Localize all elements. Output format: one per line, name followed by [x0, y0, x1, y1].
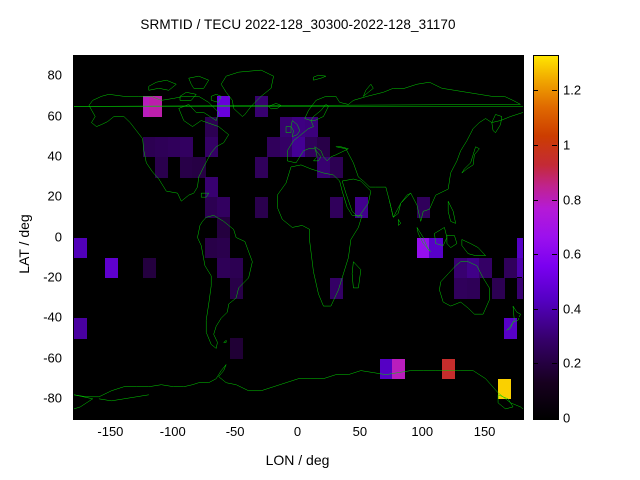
coastline-path — [74, 365, 523, 409]
y-axis-tick-mark — [517, 237, 522, 238]
colorbar-tick-label: 0.6 — [563, 247, 581, 262]
x-axis-tick-label: 50 — [330, 424, 390, 439]
coastline-path — [189, 76, 209, 88]
colorbar-tick-label: 0 — [563, 411, 570, 426]
y-axis-tick-mark — [73, 116, 78, 117]
y-axis-tick-label: 60 — [0, 108, 62, 123]
x-axis-tick-mark — [298, 413, 299, 418]
coastline-path — [211, 94, 221, 102]
colorbar-tick-mark — [552, 90, 557, 91]
colorbar-tick-mark — [552, 309, 557, 310]
colorbar[interactable] — [533, 55, 559, 420]
coastline-path — [434, 227, 446, 245]
x-axis-tick-mark — [360, 413, 361, 418]
x-axis-tick-mark — [173, 55, 174, 60]
x-axis-tick-mark — [360, 55, 361, 60]
y-axis-tick-label: -60 — [0, 350, 62, 365]
x-axis-tick-mark — [173, 413, 174, 418]
colorbar-tick-label: 1.2 — [563, 83, 581, 98]
page-title: SRMTID / TECU 2022-128_30300-2022-128_31… — [0, 17, 596, 32]
coastline-path — [286, 127, 291, 133]
y-axis-tick-label: -80 — [0, 390, 62, 405]
y-axis-label: LAT / deg — [16, 184, 32, 304]
x-axis-tick-label: -100 — [143, 424, 203, 439]
coastline-path — [462, 240, 486, 256]
y-axis-tick-mark — [517, 156, 522, 157]
y-axis-tick-mark — [73, 398, 78, 399]
y-axis-tick-mark — [517, 317, 522, 318]
y-axis-tick-mark — [73, 156, 78, 157]
colorbar-tick-label: 0.2 — [563, 356, 581, 371]
x-axis-tick-mark — [422, 413, 423, 418]
coastline-path — [448, 201, 455, 223]
y-axis-tick-label: -40 — [0, 310, 62, 325]
colorbar-tick-mark — [533, 200, 538, 201]
y-axis-tick-mark — [73, 196, 78, 197]
y-axis-tick-mark — [517, 116, 522, 117]
y-axis-tick-mark — [517, 398, 522, 399]
y-axis-tick-mark — [73, 237, 78, 238]
colorbar-tick-mark — [533, 418, 538, 419]
colorbar-tick-mark — [533, 145, 538, 146]
colorbar-tick-mark — [552, 418, 557, 419]
coastline-path — [224, 340, 226, 342]
coastline-path — [447, 235, 457, 247]
x-axis-label: LON / deg — [73, 452, 522, 468]
colorbar-gradient — [534, 56, 558, 419]
colorbar-tick-mark — [533, 309, 538, 310]
map-canvas — [74, 56, 523, 419]
coastline-path — [439, 262, 489, 314]
colorbar-tick-mark — [533, 363, 538, 364]
coastline-path — [342, 179, 371, 217]
colorbar-tick-mark — [533, 90, 538, 91]
coastline-path — [74, 82, 521, 161]
coastline-path — [363, 84, 373, 96]
colorbar-tick-mark — [552, 363, 557, 364]
y-axis-tick-mark — [73, 277, 78, 278]
x-axis-tick-label: 100 — [392, 424, 452, 439]
y-axis-tick-mark — [73, 75, 78, 76]
figure-root: SRMTID / TECU 2022-128_30300-2022-128_31… — [0, 0, 640, 480]
coastline-path — [417, 227, 431, 251]
x-axis-tick-mark — [235, 55, 236, 60]
coastline-path — [507, 306, 521, 330]
coastline-path — [197, 215, 252, 348]
x-axis-tick-label: 150 — [455, 424, 515, 439]
y-axis-tick-mark — [517, 75, 522, 76]
colorbar-tick-mark — [552, 200, 557, 201]
coastline-overlay — [74, 56, 523, 419]
colorbar-tick-label: 0.4 — [563, 301, 581, 316]
colorbar-tick-label: 0.8 — [563, 192, 581, 207]
colorbar-tick-mark — [552, 254, 557, 255]
x-axis-tick-mark — [422, 55, 423, 60]
coastline-path — [390, 193, 411, 217]
x-axis-tick-mark — [110, 55, 111, 60]
coastline-path — [291, 121, 300, 137]
y-axis-tick-mark — [73, 358, 78, 359]
coastline-path — [89, 94, 229, 201]
coastline-path — [352, 262, 361, 288]
x-axis-tick-mark — [485, 413, 486, 418]
coastline-path — [99, 395, 149, 401]
coastline-path — [492, 114, 502, 132]
y-axis-tick-mark — [517, 196, 522, 197]
colorbar-tick-mark — [552, 145, 557, 146]
x-axis-tick-label: -150 — [80, 424, 140, 439]
x-axis-tick-mark — [298, 55, 299, 60]
y-axis-tick-mark — [73, 317, 78, 318]
coastline-path — [277, 165, 362, 306]
coastline-path — [287, 112, 523, 221]
x-axis-tick-mark — [485, 55, 486, 60]
x-axis-tick-mark — [235, 413, 236, 418]
coastline-path — [221, 70, 273, 116]
x-axis-tick-label: 0 — [268, 424, 328, 439]
map-plot-area[interactable] — [73, 55, 524, 420]
coastline-path — [269, 103, 281, 108]
coastline-path — [311, 104, 328, 120]
coastline-path — [313, 75, 325, 80]
coastline-path — [398, 219, 400, 225]
coastline-path — [149, 80, 176, 90]
y-axis-tick-mark — [517, 358, 522, 359]
colorbar-tick-mark — [533, 254, 538, 255]
x-axis-tick-label: -50 — [205, 424, 265, 439]
coastline-path — [201, 193, 208, 197]
coastline-path — [462, 147, 479, 173]
y-axis-tick-label: 40 — [0, 148, 62, 163]
x-axis-tick-mark — [110, 413, 111, 418]
y-axis-tick-mark — [517, 277, 522, 278]
y-axis-tick-label: 80 — [0, 68, 62, 83]
colorbar-tick-label: 1 — [563, 138, 570, 153]
coastline-path — [498, 395, 513, 409]
